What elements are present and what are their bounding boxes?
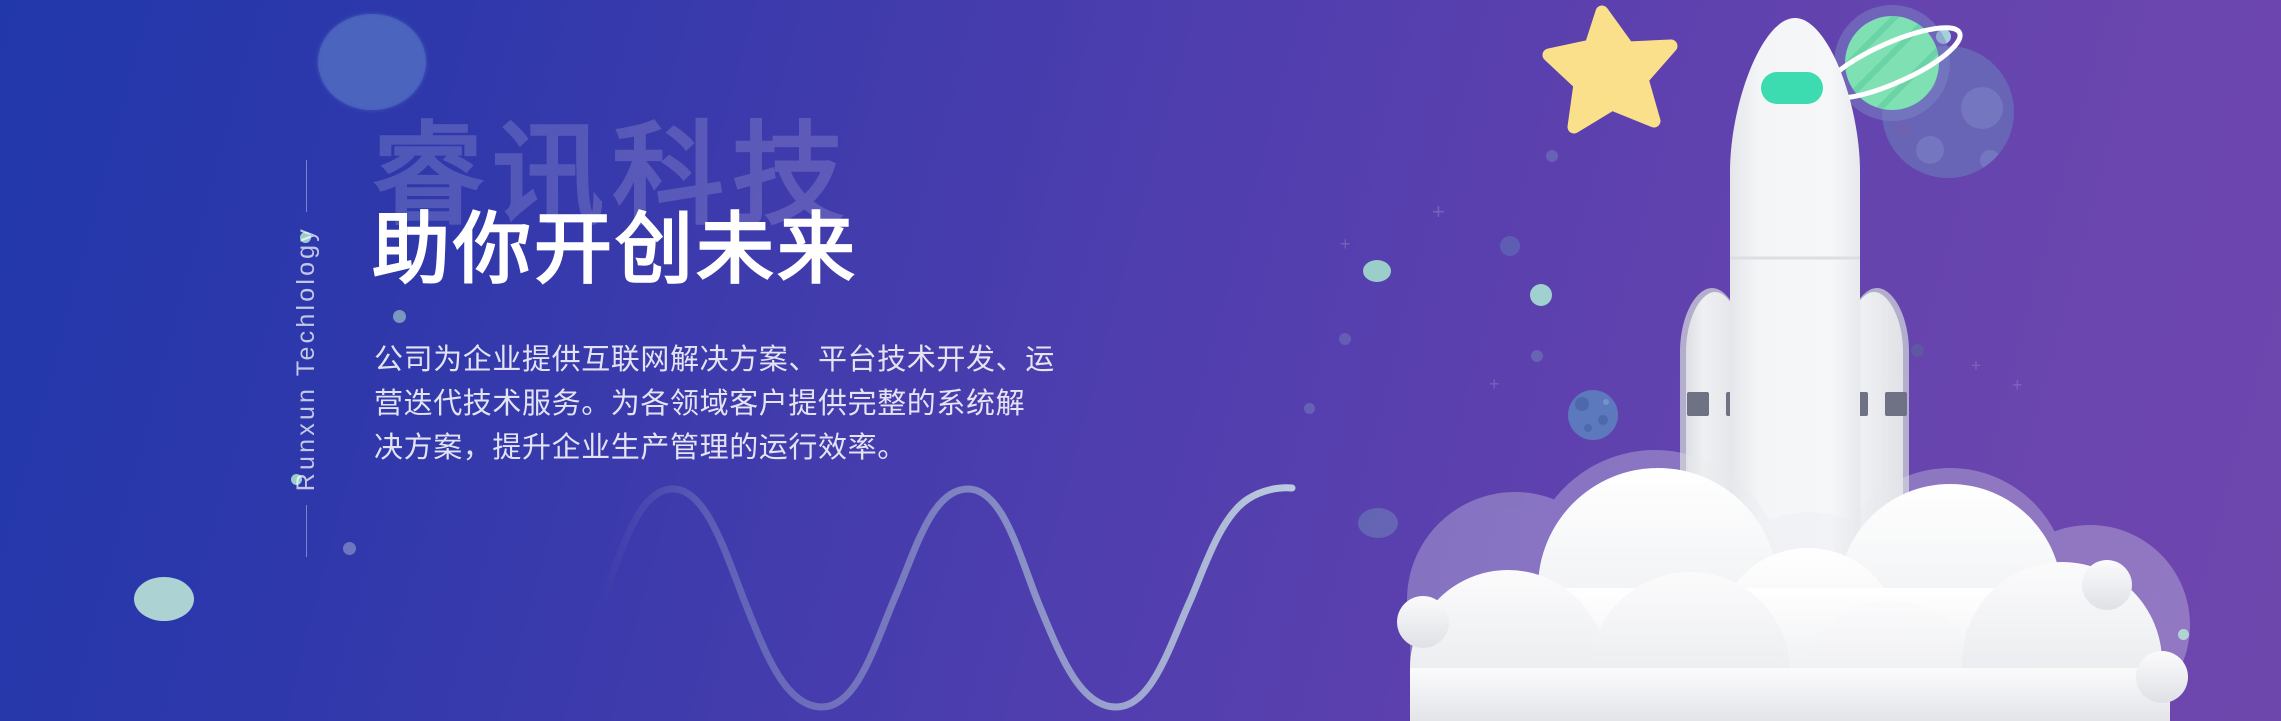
hero-description: 公司为企业提供互联网解决方案、平台技术开发、运 营迭代技术服务。为各领域客户提供… xyxy=(374,338,1164,470)
decor-dot xyxy=(318,14,426,110)
decor-wave xyxy=(600,455,1320,721)
rocket-window-icon xyxy=(1761,72,1823,104)
cloud-puff xyxy=(2136,651,2188,703)
decor-dot xyxy=(1363,260,1391,282)
vertical-rule-top xyxy=(306,160,307,212)
star-icon xyxy=(1549,12,1671,127)
vertical-brand-text: Runxun Techlology xyxy=(292,226,321,491)
vertical-brand-label: Runxun Techlology xyxy=(284,160,328,560)
decor-dot xyxy=(343,542,356,555)
decor-dot xyxy=(1339,333,1351,345)
hero-description-line: 公司为企业提供互联网解决方案、平台技术开发、运 xyxy=(374,338,1164,382)
vertical-rule-bottom xyxy=(306,505,307,557)
hero-description-line: 营迭代技术服务。为各领域客户提供完整的系统解 xyxy=(374,382,1164,426)
cloud-puff xyxy=(1397,596,1449,648)
moon-small-icon xyxy=(1568,390,1618,440)
decor-dot xyxy=(1304,403,1315,414)
page-title: 助你开创未来 xyxy=(372,206,858,293)
decor-dot xyxy=(393,310,406,323)
decor-sparkle-icon: + xyxy=(1340,235,1351,253)
rocket-illustration xyxy=(1390,0,2281,721)
hero-banner: ++++++ Runxun Techlology 睿讯科技 助你开创未来 公司为… xyxy=(0,0,2281,721)
decor-dot xyxy=(134,577,194,621)
cloud-puff xyxy=(2082,560,2132,610)
